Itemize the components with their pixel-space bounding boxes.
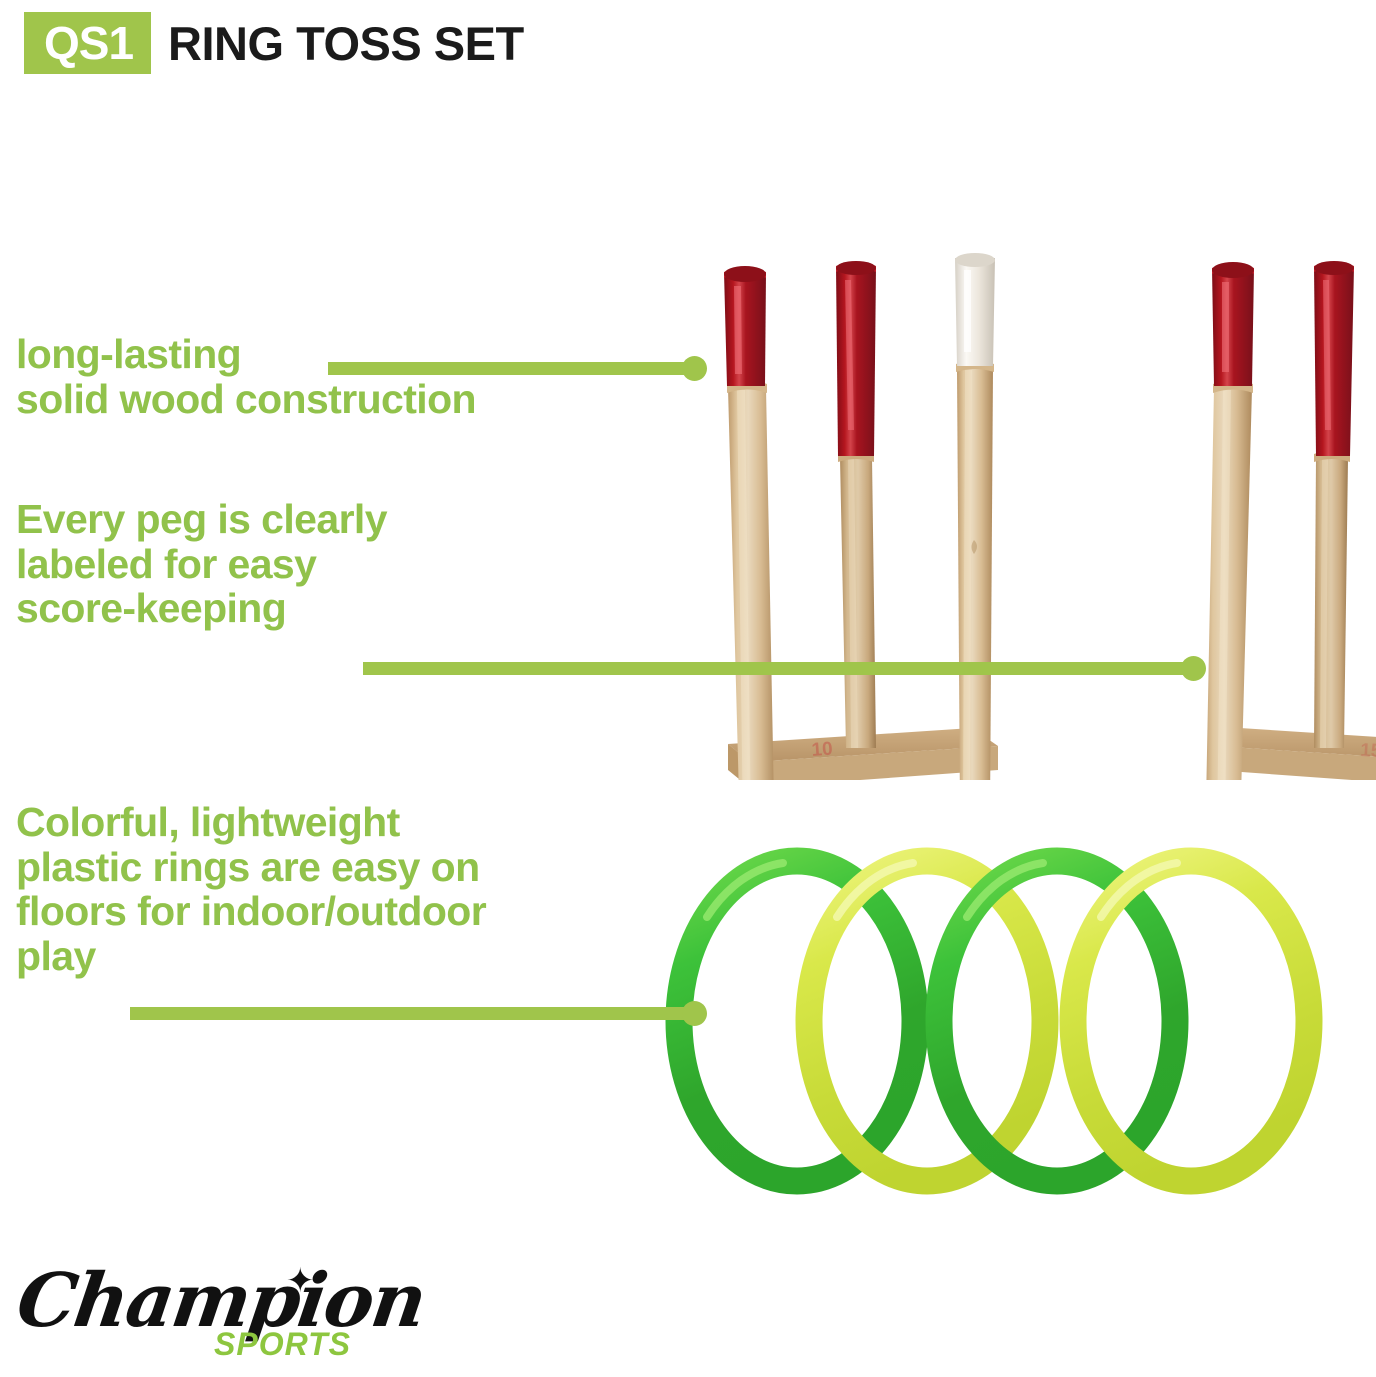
sku-label: QS1 xyxy=(44,20,133,66)
peg-back-right xyxy=(1314,261,1354,748)
toss-ring-yellow-2 xyxy=(1073,861,1309,1181)
product-photo-peg-stand: 10 15 xyxy=(600,240,1376,780)
peg-front-right xyxy=(1204,262,1254,780)
sku-badge: QS1 xyxy=(24,12,151,74)
brand-logo: Champion ✦ SPORTS xyxy=(18,1258,378,1368)
product-photo-rings xyxy=(655,825,1355,1215)
base-back-bar: 10 15 xyxy=(720,728,1376,780)
peg-front-left xyxy=(724,266,776,780)
leader-line-score-label xyxy=(363,662,1195,675)
leader-line-rings xyxy=(130,1007,696,1020)
page-header: QS1 RING TOSS SET xyxy=(24,12,524,74)
callout-labeled-pegs: Every peg is clearly labeled for easy sc… xyxy=(16,497,387,631)
page-title: RING TOSS SET xyxy=(168,12,524,74)
callout-long-lasting-construction: long-lasting solid wood construction xyxy=(16,332,476,421)
callout-plastic-rings: Colorful, lightweight plastic rings are … xyxy=(16,800,486,979)
leader-line-construction xyxy=(328,362,696,375)
base-score-label: 15 xyxy=(1360,740,1376,762)
base-score-label: 10 xyxy=(811,739,834,761)
star-icon: ✦ xyxy=(286,1264,315,1298)
peg-center xyxy=(955,253,995,780)
brand-name-sports: SPORTS xyxy=(214,1326,351,1363)
